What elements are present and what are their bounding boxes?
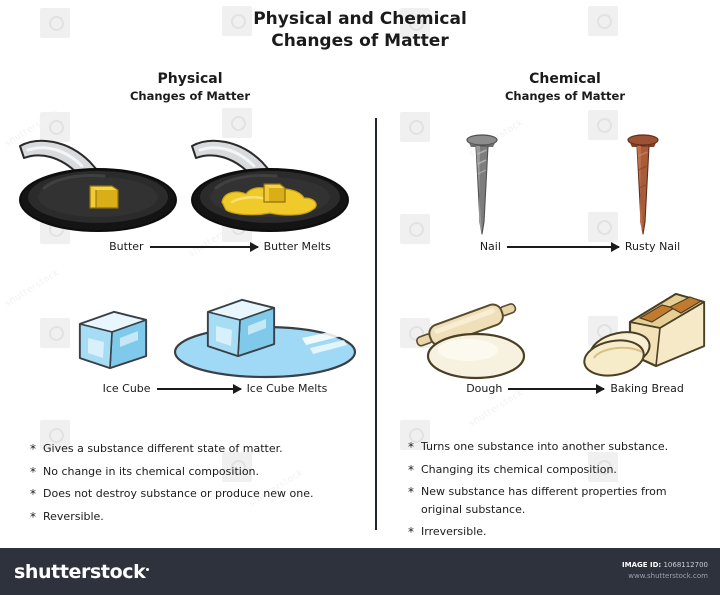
physical-bullet-list: Gives a substance different state of mat… [30,440,360,530]
nail-illustration [455,130,685,240]
image-id-value: 1068112700 [663,561,708,569]
watermark-text: shutterstock [3,268,61,309]
page-title-line-1: Physical and Chemical [0,8,720,30]
chemical-bullet-list: Turns one substance into another substan… [408,438,708,546]
ice-cube-illustration [70,290,370,380]
butter-label-from: Butter [109,240,143,253]
nail-label-from: Nail [480,240,501,253]
dough-bread-illustration [398,288,710,382]
dough-label-row: Dough Baking Bread [440,382,710,395]
ice-cube-label-row: Ice Cube Ice Cube Melts [70,382,360,395]
column-divider [375,118,377,530]
chemical-column-heading: Chemical Changes of Matter [440,70,690,104]
physical-heading-main: Physical [60,70,320,88]
chemical-heading-main: Chemical [440,70,690,88]
infographic-page: shutterstock shutterstock shutterstock s… [0,0,720,595]
watermark-box [40,318,70,348]
butter-illustration [8,128,358,240]
nail-arrow-icon [507,246,619,248]
chemical-bullet-item: Irreversible. [408,523,708,541]
watermark-box [400,214,430,244]
frying-pan-solid-butter [20,141,176,231]
chemical-bullet-item: Changing its chemical composition. [408,461,708,479]
physical-heading-sub: Changes of Matter [60,88,320,104]
butter-label-row: Butter Butter Melts [80,240,360,253]
nail-label-to: Rusty Nail [625,240,680,253]
chemical-heading-sub: Changes of Matter [440,88,690,104]
nail-rusty [628,135,658,234]
page-title-line-2: Changes of Matter [0,30,720,52]
dough-label-to: Baking Bread [610,382,683,395]
watermark-box [400,112,430,142]
dough-with-rolling-pin [414,297,524,378]
image-id-line: IMAGE ID: 1068112700 [622,560,708,571]
shutterstock-footer-bar: shutterstock IMAGE ID: 1068112700 www.sh… [0,548,720,595]
ice-cube-label-to: Ice Cube Melts [247,382,328,395]
logo-dot-icon [146,568,149,571]
physical-bullet-item: Reversible. [30,508,360,526]
footer-metadata: IMAGE ID: 1068112700 www.shutterstock.co… [622,560,708,582]
ice-cube-label-from: Ice Cube [103,382,151,395]
footer-website: www.shutterstock.com [622,571,708,582]
ice-cube-solid [80,312,146,368]
physical-bullet-item: Gives a substance different state of mat… [30,440,360,458]
dough-label-from: Dough [466,382,502,395]
chemical-bullet-item: New substance has different properties f… [408,483,708,518]
butter-arrow-icon [150,246,258,248]
baking-bread-loaf [582,294,704,380]
shutterstock-logo-text: shutterstock [14,561,145,583]
image-id-label: IMAGE ID: [622,561,661,569]
nail-label-row: Nail Rusty Nail [450,240,710,253]
physical-bullet-item: Does not destroy substance or produce ne… [30,485,360,503]
shutterstock-logo: shutterstock [14,561,149,583]
nail-steel [467,135,497,234]
page-title: Physical and Chemical Changes of Matter [0,8,720,52]
ice-cube-melting [175,300,355,377]
frying-pan-melted-butter [192,141,348,231]
ice-cube-arrow-icon [157,388,241,390]
chemical-bullet-item: Turns one substance into another substan… [408,438,708,456]
physical-column-heading: Physical Changes of Matter [60,70,320,104]
dough-arrow-icon [508,388,604,390]
physical-bullet-item: No change in its chemical composition. [30,463,360,481]
butter-label-to: Butter Melts [264,240,331,253]
